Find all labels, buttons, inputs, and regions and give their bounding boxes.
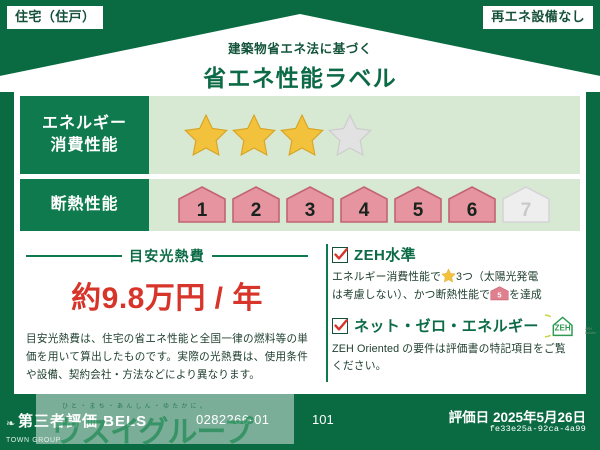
svg-text:ZEH: ZEH — [554, 324, 570, 333]
star-icon-filled — [183, 112, 229, 158]
zeh-netzero-title: ネット・ゼロ・エネルギー — [354, 315, 539, 336]
energy-performance-row: エネルギー 消費性能 — [20, 96, 580, 174]
svg-text:5: 5 — [413, 200, 424, 221]
insulation-levels-group: 1234567 — [149, 179, 580, 231]
utility-cost-amount: 約9.8万円 / 年 — [26, 273, 308, 317]
energy-performance-label: エネルギー 消費性能 — [20, 96, 149, 174]
star-icon-empty — [327, 112, 373, 158]
lower-section: 目安光熱費 約9.8万円 / 年 目安光熱費は、住宅の省エネ性能と全国一律の燃料… — [14, 238, 586, 394]
zeh-panel: ZEH水準 エネルギー消費性能で3つ（太陽光発電は考慮しない）、かつ断熱性能で5… — [318, 238, 586, 394]
house-badge-filled: 1 — [177, 186, 227, 224]
unit-number: 101 — [312, 412, 334, 427]
energy-stars-group — [149, 96, 580, 174]
svg-text:5: 5 — [497, 291, 502, 300]
zeh-logo-icon: ZEH — [545, 314, 579, 338]
check-icon — [334, 319, 348, 333]
house-badge-filled: 4 — [339, 186, 389, 224]
insulation-performance-label: 断熱性能 — [20, 179, 149, 231]
evaluation-date-value: 2025年5月26日 — [493, 410, 586, 425]
document-hash: fe33e25a-92ca-4a99 — [490, 424, 586, 434]
title-subtitle: 建築物省エネ法に基づく — [0, 38, 600, 57]
checkbox-zeh-standard[interactable] — [332, 247, 348, 263]
label-card: エネルギー 消費性能 断熱性能 1234567 目安光熱費 約9.8万円 / 年… — [14, 92, 586, 394]
house-badge-icon-inline: 5 — [490, 286, 509, 301]
badge-building-type: 住宅（住戸） — [6, 5, 104, 30]
zeh-standard-head: ZEH水準 — [332, 244, 576, 265]
energy-label-line1: エネルギー — [42, 113, 127, 135]
svg-text:7: 7 — [521, 200, 532, 221]
zeh-standard-body: エネルギー消費性能で3つ（太陽光発電は考慮しない）、かつ断熱性能で5を達成 — [332, 268, 576, 305]
badge-renewable-equipment: 再エネ設備なし — [482, 5, 594, 30]
insulation-performance-row: 断熱性能 1234567 — [20, 179, 580, 231]
star-icon-filled — [279, 112, 325, 158]
zeh-netzero-head: ネット・ゼロ・エネルギー ZEH ZEHBuilder — [332, 314, 576, 338]
page-title: 省エネ性能ラベル — [0, 59, 600, 93]
utility-cost-title: 目安光熱費 — [129, 246, 205, 266]
star-icon-filled — [231, 112, 277, 158]
zeh-body-text-c: を達成 — [509, 289, 542, 301]
zeh-body-text-b: は考慮しない）、かつ断熱性能で — [332, 289, 490, 301]
svg-text:6: 6 — [467, 200, 478, 221]
check-icon — [334, 248, 348, 262]
svg-text:3: 3 — [305, 200, 316, 221]
utility-cost-panel: 目安光熱費 約9.8万円 / 年 目安光熱費は、住宅の省エネ性能と全国一律の燃料… — [14, 238, 318, 394]
evaluation-date-label: 評価日 — [449, 410, 490, 425]
zeh-standard-item: ZEH水準 エネルギー消費性能で3つ（太陽光発電は考慮しない）、かつ断熱性能で5… — [332, 244, 576, 305]
zeh-netzero-body: ZEH Oriented の要件は評価書の特記項目をご覧ください。 — [332, 341, 576, 376]
house-badge-filled: 2 — [231, 186, 281, 224]
utility-cost-note: 目安光熱費は、住宅の省エネ性能と全国一律の燃料等の単価を用いて算出したものです。… — [26, 330, 308, 385]
checkbox-zeh-netzero[interactable] — [332, 318, 348, 334]
energy-label-root: 住宅（住戸） 再エネ設備なし 建築物省エネ法に基づく 省エネ性能ラベル エネルギ… — [0, 0, 600, 450]
zeh-netzero-item: ネット・ゼロ・エネルギー ZEH ZEHBuilder ZEH Oriented… — [332, 314, 576, 376]
house-badge-filled: 5 — [393, 186, 443, 224]
house-badge-empty: 7 — [501, 186, 551, 224]
svg-text:1: 1 — [197, 200, 208, 221]
utility-cost-heading: 目安光熱費 — [26, 246, 308, 266]
title-block: 建築物省エネ法に基づく 省エネ性能ラベル — [0, 38, 600, 93]
svg-text:2: 2 — [251, 200, 262, 221]
house-badge-filled: 6 — [447, 186, 497, 224]
bels-number: 0282266-01 — [196, 412, 269, 427]
zeh-standard-title: ZEH水準 — [354, 244, 416, 265]
zeh-body-text-star: 3つ（太陽光発電 — [456, 271, 538, 283]
zeh-body-text-a: エネルギー消費性能で — [332, 271, 441, 283]
third-party-evaluation-label: 第三者評価 BELS — [18, 410, 147, 431]
star-icon-inline — [441, 268, 456, 283]
zeh-logo-caption: ZEHBuilder — [585, 328, 596, 336]
rule-right — [212, 255, 308, 257]
evaluation-date: 評価日 2025年5月26日 — [449, 406, 586, 426]
footer-bar: 第三者評価 BELS 0282266-01 101 評価日 2025年5月26日… — [0, 398, 600, 450]
house-badge-filled: 3 — [285, 186, 335, 224]
energy-label-line2: 消費性能 — [50, 135, 118, 157]
rule-left — [26, 255, 122, 257]
svg-text:4: 4 — [359, 200, 370, 221]
vertical-divider — [326, 244, 328, 382]
